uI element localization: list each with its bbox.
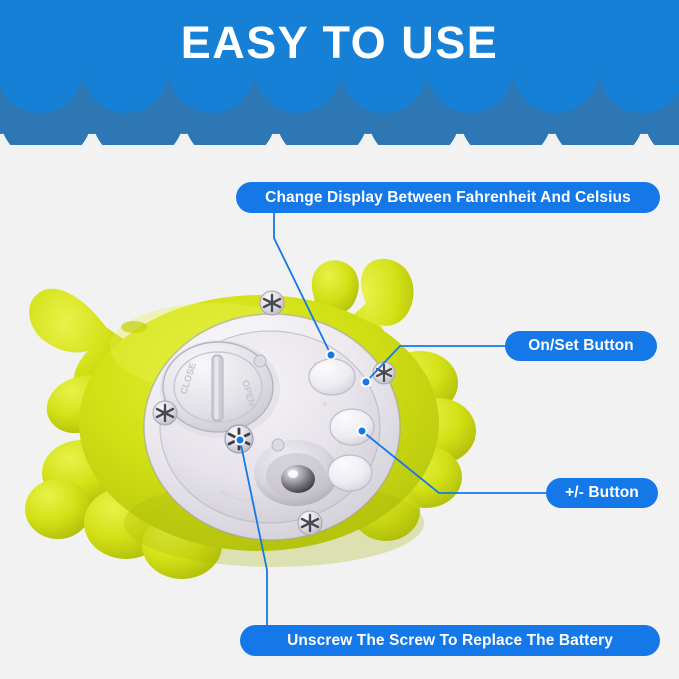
- onset-button[interactable]: [330, 409, 374, 445]
- callout-change-display[interactable]: Change Display Between Fahrenheit And Ce…: [236, 182, 660, 213]
- screw-left: [153, 401, 177, 425]
- screw-top: [260, 291, 284, 315]
- callout-battery[interactable]: Unscrew The Screw To Replace The Battery: [240, 625, 660, 656]
- plusminus-button[interactable]: [328, 455, 372, 491]
- screw-bottom: [298, 511, 322, 535]
- header-banner: EASY TO USE: [0, 0, 679, 145]
- screw-right: [373, 362, 395, 384]
- callout-plus-minus[interactable]: +/- Button: [546, 478, 658, 508]
- battery-cap[interactable]: CLOSE OPEN: [160, 340, 280, 438]
- callout-on-set[interactable]: On/Set Button: [505, 331, 657, 361]
- sensor-probe: [254, 440, 338, 506]
- product-image: + + SET °C CLOSE OPEN: [14, 255, 514, 585]
- infographic-canvas: EASY TO USE: [0, 0, 679, 679]
- mode-button[interactable]: [309, 359, 355, 395]
- center-screw: [225, 425, 253, 453]
- page-title: EASY TO USE: [0, 13, 679, 73]
